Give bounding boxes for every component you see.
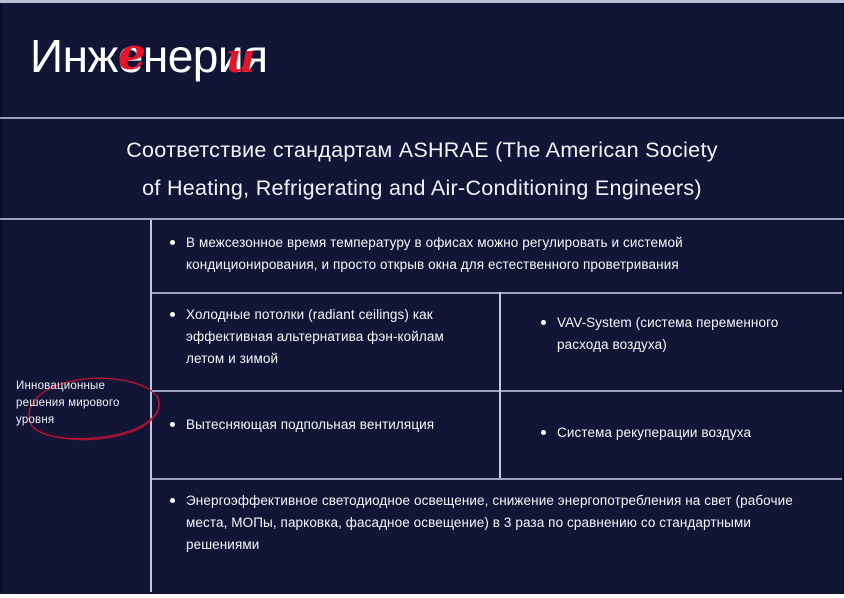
row-3-left-cell: Вытесняющая подпольная вентиляция <box>152 390 499 478</box>
slide-bottom-rule <box>0 594 844 598</box>
content-rows: В межсезонное время температуру в офисах… <box>152 220 842 592</box>
brand-logo: Инженерия е и <box>30 29 330 85</box>
side-label-text: Инновационные решения мирового уровня <box>16 378 144 429</box>
logo-band: Инженерия е и <box>0 3 844 117</box>
logo-script-letter-e: е <box>118 33 146 77</box>
row-1-cell: В межсезонное время температуру в офисах… <box>152 220 842 292</box>
logo-script-letter-i: и <box>226 39 255 79</box>
row-2-right-cell: VAV-System (система переменного расхода … <box>501 292 842 390</box>
list-item: В межсезонное время температуру в офисах… <box>166 232 816 276</box>
slide-body: Инновационные решения мирового уровня В … <box>2 220 842 592</box>
title-line-1: Соответствие стандартам ASHRAE (The Amer… <box>126 131 718 169</box>
list-item: Холодные потолки (radiant ceilings) как … <box>166 304 485 370</box>
two-column-divider <box>499 292 501 478</box>
row-4-cell: Энергоэффективное светодиодное освещение… <box>152 478 842 592</box>
title-line-2: of Heating, Refrigerating and Air-Condit… <box>142 169 702 207</box>
list-item: Вытесняющая подпольная вентиляция <box>166 414 485 436</box>
list-item: VAV-System (система переменного расхода … <box>537 312 828 356</box>
list-item: Система рекуперации воздуха <box>537 422 828 444</box>
presentation-slide: Инженерия е и Соответствие стандартам AS… <box>0 0 844 598</box>
row-3-right-cell: Система рекуперации воздуха <box>501 390 842 478</box>
slide-title: Соответствие стандартам ASHRAE (The Amer… <box>2 119 842 218</box>
list-item: Энергоэффективное светодиодное освещение… <box>166 490 816 556</box>
row-2-left-cell: Холодные потолки (radiant ceilings) как … <box>152 292 499 390</box>
